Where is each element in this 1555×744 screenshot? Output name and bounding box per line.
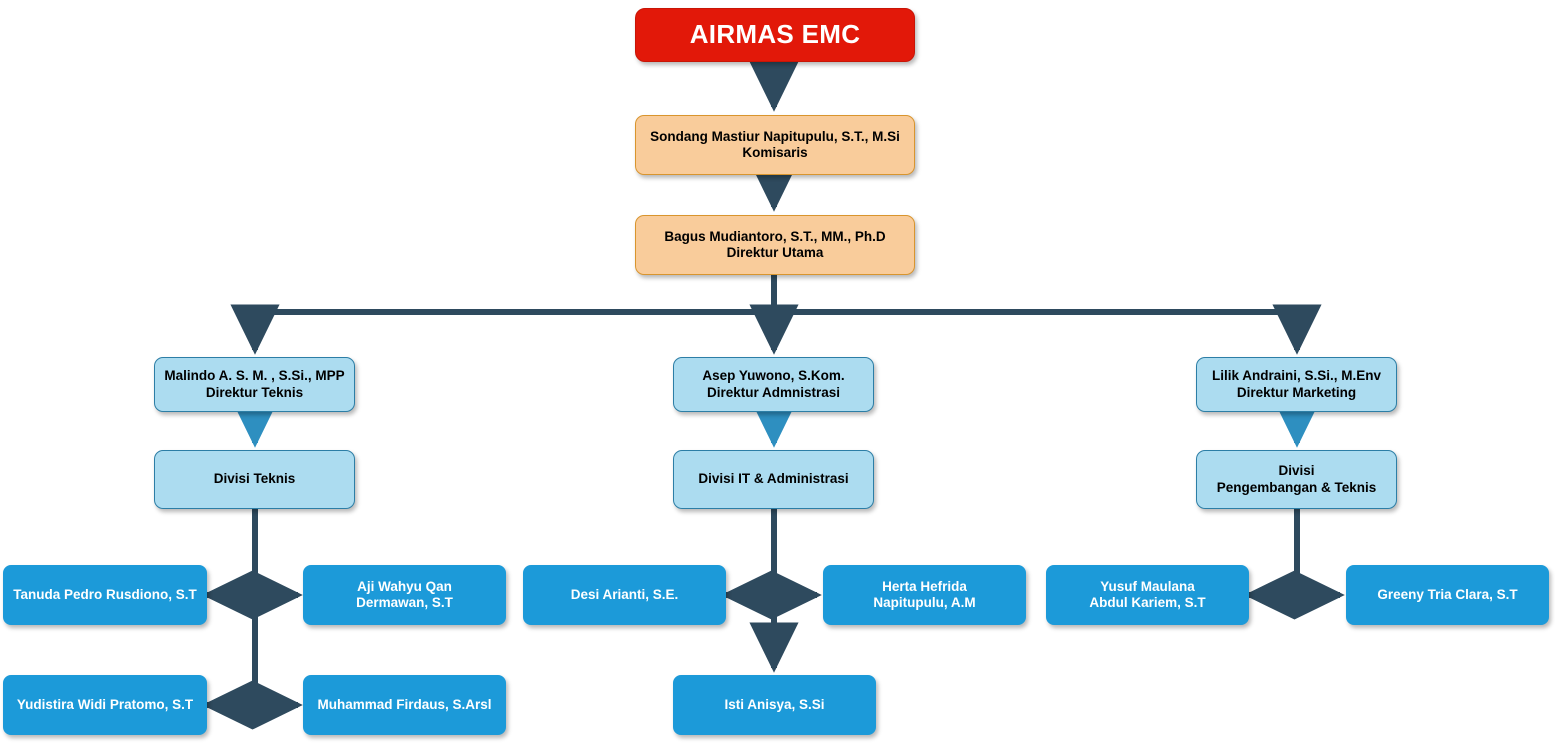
node-staff-greeny-tria-clara[interactable]: Greeny Tria Clara, S.T — [1346, 565, 1549, 625]
node-label: Greeny Tria Clara, S.T — [1377, 587, 1517, 603]
node-label: Herta Hefrida Napitupulu, A.M — [873, 579, 975, 612]
node-label: Divisi Teknis — [214, 471, 296, 487]
node-label: Yusuf Maulana Abdul Kariem, S.T — [1089, 579, 1205, 612]
node-label: Tanuda Pedro Rusdiono, S.T — [13, 587, 197, 603]
node-label: Desi Arianti, S.E. — [571, 587, 679, 603]
node-komisaris[interactable]: Sondang Mastiur Napitupulu, S.T., M.Si K… — [635, 115, 915, 175]
node-divisi-teknis[interactable]: Divisi Teknis — [154, 450, 355, 509]
node-label: AIRMAS EMC — [690, 19, 861, 51]
node-staff-muhammad-firdaus[interactable]: Muhammad Firdaus, S.Arsl — [303, 675, 506, 735]
node-staff-isti-anisya[interactable]: Isti Anisya, S.Si — [673, 675, 876, 735]
node-label: Yudistira Widi Pratomo, S.T — [17, 697, 193, 713]
node-label: Lilik Andraini, S.Si., M.Env Direktur Ma… — [1212, 368, 1381, 401]
node-label: Aji Wahyu Qan Dermawan, S.T — [356, 579, 453, 612]
node-label: Isti Anisya, S.Si — [724, 697, 824, 713]
node-label: Malindo A. S. M. , S.Si., MPP Direktur T… — [164, 368, 344, 401]
node-label: Divisi Pengembangan & Teknis — [1217, 463, 1377, 496]
node-staff-yudistira[interactable]: Yudistira Widi Pratomo, S.T — [3, 675, 207, 735]
node-label: Bagus Mudiantoro, S.T., MM., Ph.D Direkt… — [664, 229, 885, 262]
node-staff-tanuda[interactable]: Tanuda Pedro Rusdiono, S.T — [3, 565, 207, 625]
node-staff-desi-arianti[interactable]: Desi Arianti, S.E. — [523, 565, 726, 625]
node-staff-yusuf-maulana[interactable]: Yusuf Maulana Abdul Kariem, S.T — [1046, 565, 1249, 625]
node-label: Sondang Mastiur Napitupulu, S.T., M.Si K… — [650, 129, 900, 162]
node-direktur-marketing[interactable]: Lilik Andraini, S.Si., M.Env Direktur Ma… — [1196, 357, 1397, 412]
node-label: Divisi IT & Administrasi — [698, 471, 848, 487]
node-divisi-pengembangan-teknis[interactable]: Divisi Pengembangan & Teknis — [1196, 450, 1397, 509]
node-label: Muhammad Firdaus, S.Arsl — [317, 697, 491, 713]
node-direktur-utama[interactable]: Bagus Mudiantoro, S.T., MM., Ph.D Direkt… — [635, 215, 915, 275]
node-direktur-teknis[interactable]: Malindo A. S. M. , S.Si., MPP Direktur T… — [154, 357, 355, 412]
node-root-airmas-emc[interactable]: AIRMAS EMC — [635, 8, 915, 62]
node-label: Asep Yuwono, S.Kom. Direktur Admnistrasi — [702, 368, 844, 401]
org-chart: AIRMAS EMC Sondang Mastiur Napitupulu, S… — [0, 0, 1555, 744]
node-divisi-it-administrasi[interactable]: Divisi IT & Administrasi — [673, 450, 874, 509]
node-staff-herta-hefrida[interactable]: Herta Hefrida Napitupulu, A.M — [823, 565, 1026, 625]
node-direktur-administrasi[interactable]: Asep Yuwono, S.Kom. Direktur Admnistrasi — [673, 357, 874, 412]
node-staff-aji[interactable]: Aji Wahyu Qan Dermawan, S.T — [303, 565, 506, 625]
